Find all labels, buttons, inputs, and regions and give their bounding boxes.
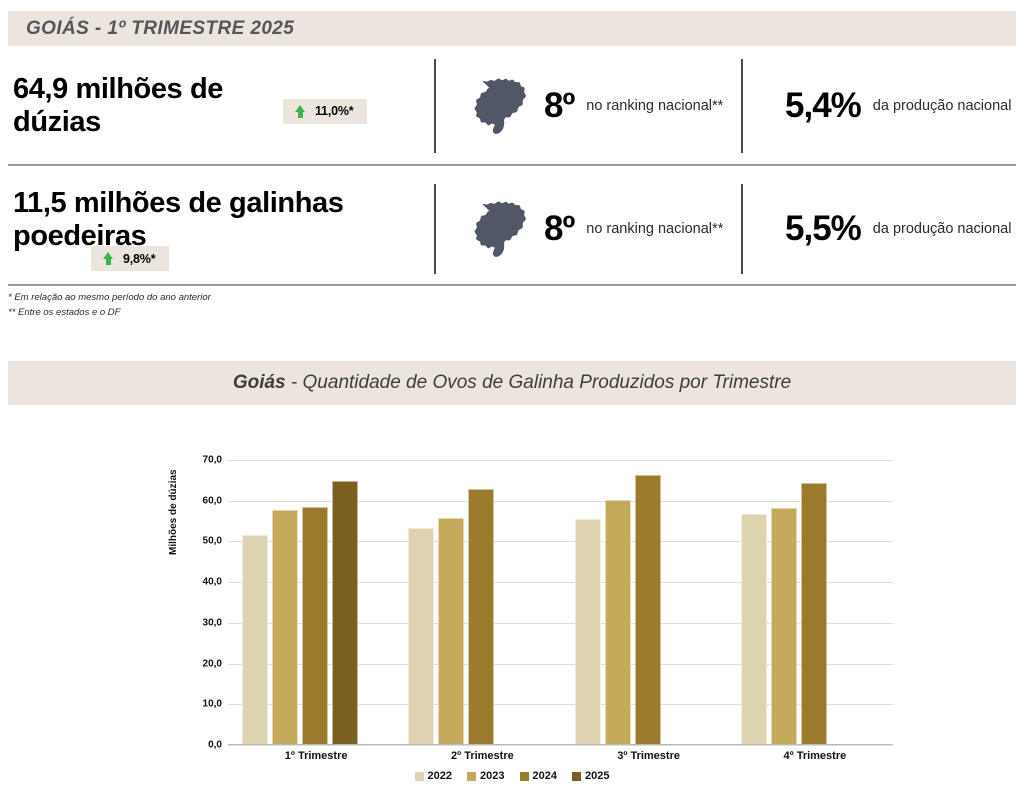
share-label: da produção nacional [873,220,1012,239]
y-axis-title: Milhões de dúzias [168,469,179,555]
x-axis-line [228,744,893,745]
legend-label: 2023 [480,770,504,782]
y-axis-tick-label: 60,0 [182,495,222,506]
legend-label: 2024 [533,770,557,782]
delta-value: 11,0%* [315,104,353,118]
brazil-map-icon [468,71,532,142]
y-axis-tick-label: 40,0 [182,577,222,588]
chart-title-band: Goiás - Quantidade de Ovos de Galinha Pr… [8,361,1016,405]
rank-value: 8º [544,209,574,249]
bar [771,508,797,745]
bar-group [228,460,394,745]
rank-value: 8º [544,86,574,126]
bar [272,510,298,745]
page-title: GOIÁS - 1º TRIMESTRE 2025 [8,18,294,40]
bar-group [394,460,560,745]
bar [635,475,661,745]
delta-value: 9,8%* [123,252,155,266]
stat-rank-cell: 8º no ranking nacional** [436,194,741,265]
legend-swatch [415,772,424,781]
bar-group [561,460,727,745]
bar [408,528,434,745]
share-value: 5,4% [785,86,861,126]
x-axis-labels: 1º Trimestre2º Trimestre3º Trimestre4º T… [228,750,893,762]
stat-headline-cell: 64,9 milhões de dúzias 11,0%* [8,73,434,139]
stat-row-hens: 11,5 milhões de galinhas poedeiras 9,8%*… [8,180,1016,278]
stat-rank-cell: 8º no ranking nacional** [436,71,741,142]
chart-bar-groups [228,460,893,745]
legend-label: 2025 [585,770,609,782]
x-axis-category-label: 3º Trimestre [561,750,727,762]
y-axis-tick-label: 20,0 [182,658,222,669]
bar-group [727,460,893,745]
chart-title-rest: - Quantidade de Ovos de Galinha Produzid… [286,372,792,393]
stat-headline: 64,9 milhões de dúzias [13,73,283,139]
bar [575,519,601,745]
status-badge: 11,0%* [283,99,367,124]
legend-item[interactable]: 2023 [467,770,504,782]
footnote-item: ** Entre os estados e o DF [8,306,211,321]
legend-swatch [467,772,476,781]
x-axis-category-label: 2º Trimestre [394,750,560,762]
legend-swatch [520,772,529,781]
y-axis-tick-label: 10,0 [182,699,222,710]
bar [438,518,464,745]
stat-headline: 11,5 milhões de galinhas poedeiras [13,187,434,253]
y-axis-tick-label: 70,0 [182,455,222,466]
stat-row-eggs: 64,9 milhões de dúzias 11,0%* 8º no rank… [8,55,1016,157]
stat-headline-cell: 11,5 milhões de galinhas poedeiras 9,8%* [8,187,434,272]
y-axis-tick-label: 50,0 [182,536,222,547]
footnotes: * Em relação ao mesmo período do ano ant… [8,291,211,320]
legend-item[interactable]: 2022 [415,770,452,782]
status-badge: 9,8%* [91,246,169,271]
arrow-up-icon [295,105,306,118]
legend-item[interactable]: 2025 [572,770,609,782]
y-axis-tick-label: 0,0 [182,740,222,751]
legend-swatch [572,772,581,781]
bar [302,507,328,745]
chart-plot-area: 0,010,020,030,040,050,060,070,0 [228,460,893,745]
chart-title: Goiás - Quantidade de Ovos de Galinha Pr… [233,372,791,394]
bar [741,514,767,745]
share-value: 5,5% [785,209,861,249]
bar [468,489,494,745]
share-label: da produção nacional [873,97,1012,116]
bar [242,535,268,745]
footnote-item: * Em relação ao mesmo período do ano ant… [8,291,211,306]
legend-item[interactable]: 2024 [520,770,557,782]
bar [332,481,358,745]
bar [801,483,827,745]
rank-label: no ranking nacional** [586,220,723,239]
divider-horizontal [8,164,1016,166]
gridline [228,745,893,746]
brazil-map-icon [468,194,532,265]
stat-share-cell: 5,4% da produção nacional [743,86,1016,126]
divider-horizontal [8,284,1016,286]
x-axis-category-label: 4º Trimestre [727,750,893,762]
rank-label: no ranking nacional** [586,97,723,116]
y-axis-tick-label: 30,0 [182,617,222,628]
header-band: GOIÁS - 1º TRIMESTRE 2025 [8,11,1016,46]
legend-label: 2022 [428,770,452,782]
chart-title-state: Goiás [233,372,286,393]
arrow-up-icon [103,252,114,265]
x-axis-category-label: 1º Trimestre [228,750,394,762]
stat-share-cell: 5,5% da produção nacional [743,209,1016,249]
bar [605,500,631,745]
chart-legend: 2022202320242025 [0,770,1024,782]
